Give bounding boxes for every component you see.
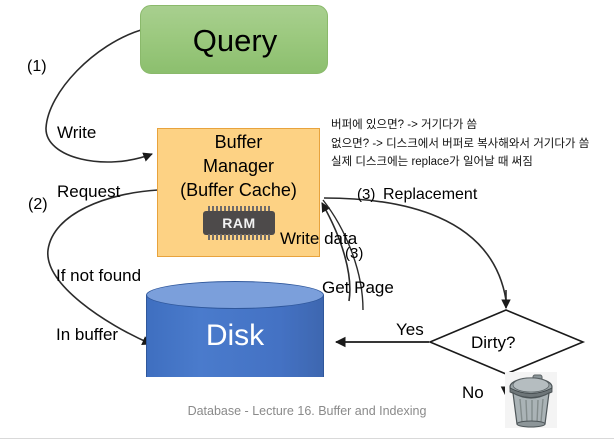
edge-label-if-not-found: If not found In buffer bbox=[56, 227, 141, 383]
edge-label-get-page: Get Page bbox=[322, 278, 394, 298]
ram-pins-bottom bbox=[208, 234, 270, 240]
if-not-found-line-1: If not found bbox=[56, 266, 141, 286]
node-disk: Disk bbox=[146, 281, 324, 390]
trash-can-icon bbox=[505, 372, 557, 428]
write-request-line-1: Write bbox=[57, 123, 120, 143]
decision-label: Dirty? bbox=[471, 333, 515, 353]
ram-chip-label: RAM bbox=[203, 211, 275, 235]
korean-note-line-3: 실제 디스크에는 replace가 일어날 때 써짐 bbox=[331, 153, 589, 172]
korean-notes: 버퍼에 있으면? -> 거기다가 씀 없으면? -> 디스크에서 버퍼로 복사해… bbox=[331, 116, 589, 172]
korean-note-line-1: 버퍼에 있으면? -> 거기다가 씀 bbox=[331, 116, 589, 135]
edge-label-step-1: (1) bbox=[27, 58, 47, 76]
diagram-canvas: Query Buffer Manager (Buffer Cache) RAM … bbox=[0, 0, 614, 444]
edge-label-write-request: Write Request bbox=[57, 84, 120, 240]
node-query-label: Query bbox=[141, 6, 329, 75]
edge-label-yes: Yes bbox=[396, 320, 424, 340]
edge-label-step-3-write-data: (3) bbox=[345, 245, 363, 262]
edge-label-replacement: Replacement bbox=[383, 186, 477, 204]
edge-label-step-3-replacement: (3) bbox=[357, 186, 375, 203]
node-buffer-manager-label: Buffer Manager (Buffer Cache) bbox=[157, 131, 320, 203]
edge-label-no: No bbox=[462, 383, 484, 403]
write-request-line-2: Request bbox=[57, 182, 120, 202]
if-not-found-line-2: In buffer bbox=[56, 325, 141, 345]
buffer-line-1: Buffer bbox=[157, 131, 320, 155]
buffer-line-3: (Buffer Cache) bbox=[157, 179, 320, 203]
footer-caption: Database - Lecture 16. Buffer and Indexi… bbox=[0, 404, 614, 418]
node-disk-label: Disk bbox=[146, 295, 324, 377]
korean-note-line-2: 없으면? -> 디스크에서 버퍼로 복사해와서 거기다가 씀 bbox=[331, 135, 589, 154]
buffer-line-2: Manager bbox=[157, 155, 320, 179]
bottom-divider bbox=[0, 438, 614, 439]
ram-chip-icon: RAM bbox=[203, 206, 275, 240]
edge-label-step-2: (2) bbox=[28, 196, 48, 214]
node-query: Query bbox=[140, 5, 328, 74]
